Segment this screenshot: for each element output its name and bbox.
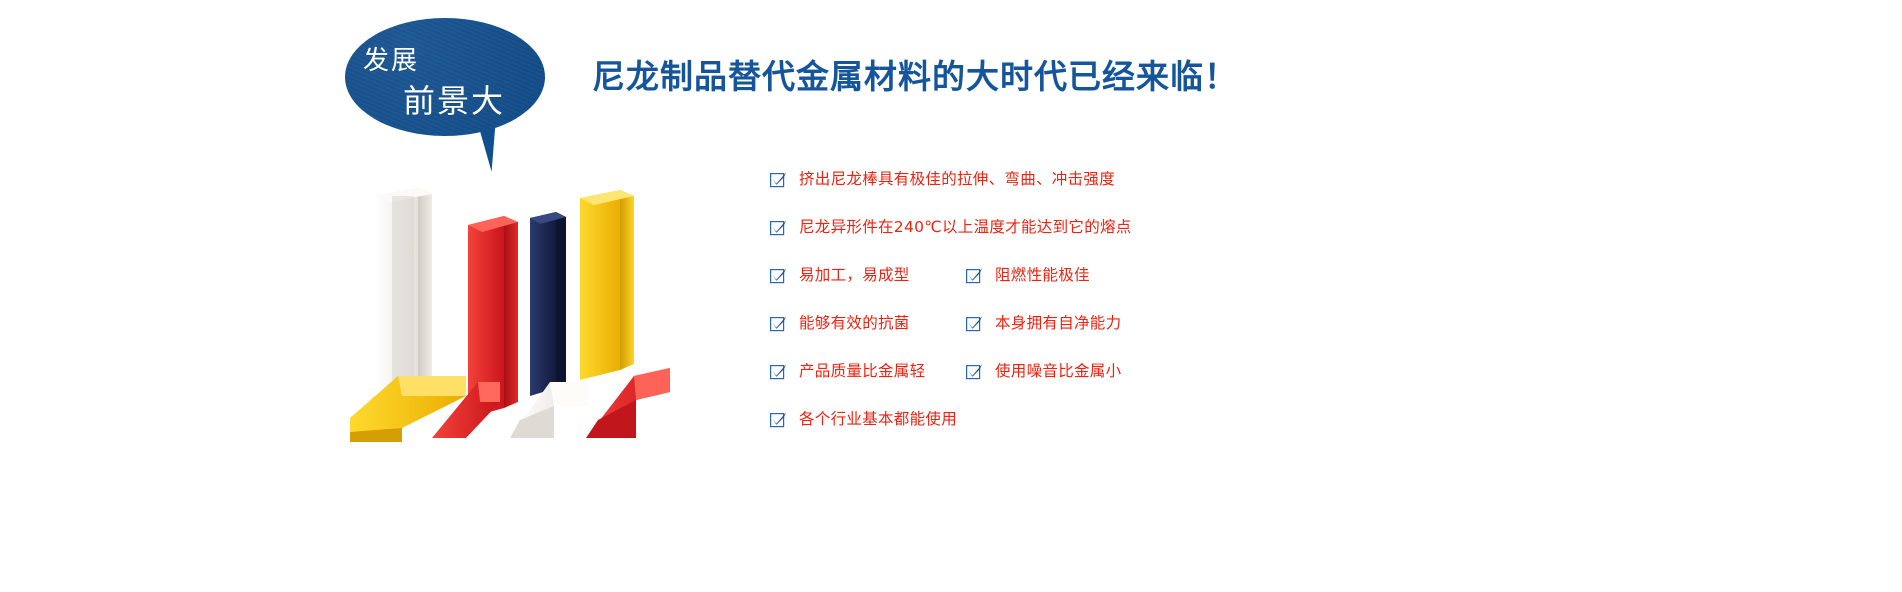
feature-item: 产品质量比金属轻 [770,362,966,381]
promo-banner: 发展 前景大 尼龙制品替代金属材料的大时代已经来临！ [0,0,1902,592]
speech-bubble: 发展 前景大 [345,18,545,168]
feature-label: 使用噪音比金属小 [995,362,1121,381]
feature-label: 阻燃性能极佳 [995,266,1090,285]
feature-item: 阻燃性能极佳 [966,266,1166,285]
feature-item: 本身拥有自净能力 [966,314,1166,333]
check-box-icon [770,171,787,188]
feature-row: 能够有效的抗菌 本身拥有自净能力 [770,299,1370,347]
feature-label: 易加工，易成型 [799,266,910,285]
bubble-line-1: 发展 [363,40,419,77]
feature-label: 尼龙异形件在240℃以上温度才能达到它的熔点 [799,218,1132,237]
feature-label: 挤出尼龙棒具有极佳的拉伸、弯曲、冲击强度 [799,170,1115,189]
feature-row: 尼龙异形件在240℃以上温度才能达到它的熔点 [770,203,1370,251]
check-box-icon [770,363,787,380]
nylon-profiles-illustration [340,170,740,470]
feature-list: 挤出尼龙棒具有极佳的拉伸、弯曲、冲击强度 尼龙异形件在240℃以上温度才能达到它… [770,155,1370,443]
bubble-line-2: 前景大 [403,76,505,122]
check-box-icon [770,219,787,236]
feature-item: 尼龙异形件在240℃以上温度才能达到它的熔点 [770,218,1370,237]
feature-item: 能够有效的抗菌 [770,314,966,333]
feature-label: 产品质量比金属轻 [799,362,925,381]
speech-bubble-body: 发展 前景大 [345,18,545,136]
feature-label: 能够有效的抗菌 [799,314,910,333]
check-box-icon [770,267,787,284]
feature-item: 各个行业基本都能使用 [770,410,1370,429]
feature-item: 挤出尼龙棒具有极佳的拉伸、弯曲、冲击强度 [770,170,1370,189]
check-box-icon [966,267,983,284]
feature-row: 易加工，易成型 阻燃性能极佳 [770,251,1370,299]
page-title: 尼龙制品替代金属材料的大时代已经来临！ [592,50,1238,98]
feature-row: 各个行业基本都能使用 [770,395,1370,443]
feature-label: 各个行业基本都能使用 [799,410,957,429]
product-photo [340,170,740,470]
feature-item: 易加工，易成型 [770,266,966,285]
feature-label: 本身拥有自净能力 [995,314,1121,333]
check-box-icon [966,315,983,332]
check-box-icon [770,411,787,428]
feature-row: 产品质量比金属轻 使用噪音比金属小 [770,347,1370,395]
check-box-icon [770,315,787,332]
check-box-icon [966,363,983,380]
feature-item: 使用噪音比金属小 [966,362,1166,381]
feature-row: 挤出尼龙棒具有极佳的拉伸、弯曲、冲击强度 [770,155,1370,203]
